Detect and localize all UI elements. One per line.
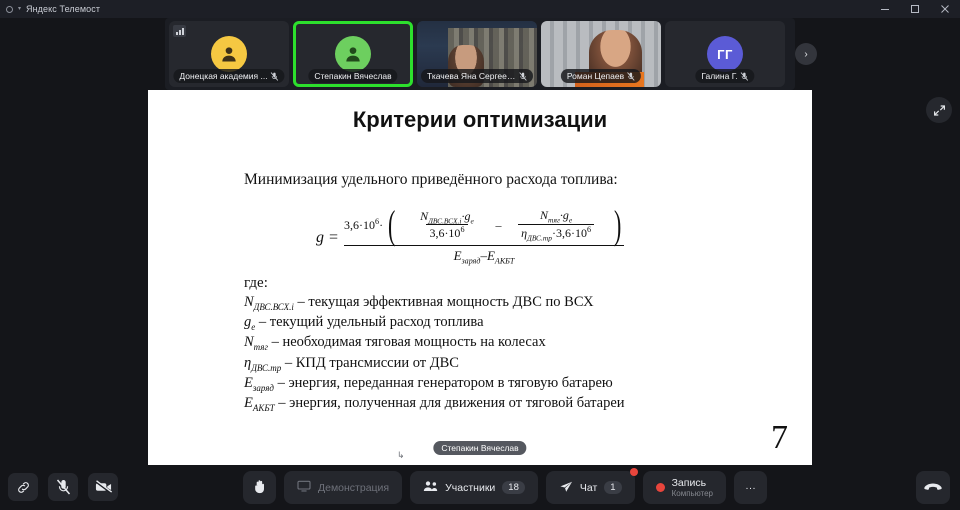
participant-name: Галина Г. <box>701 71 737 81</box>
app-title: Яндекс Телемост <box>26 4 100 14</box>
avatar <box>335 36 371 72</box>
meeting-toolbar: Демонстрация Участники 18 <box>0 465 960 510</box>
formula-lhs: g = <box>316 229 339 247</box>
participant-name-badge: Роман Цепаев <box>561 69 641 83</box>
network-quality-icon <box>173 25 186 37</box>
participant-name-badge: Ткачева Яна Сергеев... <box>421 69 533 83</box>
active-speaker-chip: Степакин Вячеслав <box>433 441 526 455</box>
slide-title: Критерии оптимизации <box>148 107 812 133</box>
camera-toggle-button[interactable] <box>88 473 118 501</box>
participant-thumbnail[interactable]: Ткачева Яна Сергеев... <box>417 21 537 87</box>
raise-hand-button[interactable] <box>243 471 276 504</box>
record-button[interactable]: Запись Компьютер <box>643 471 726 504</box>
formula-numerator: 3,6·106· ( NДВС.ВСХ.i·ge 3,6·106 – Nтяг·… <box>344 207 624 245</box>
legend-item: ηДВС.тр – КПД трансмиссии от ДВС <box>244 354 812 374</box>
participants-count: 18 <box>502 481 525 494</box>
legend-item: ge – текущий удельный расход топлива <box>244 313 812 333</box>
hangup-button[interactable] <box>916 471 950 504</box>
monitor-icon <box>297 480 311 495</box>
participants-label: Участники <box>445 482 495 494</box>
participant-name: Степакин Вячеслав <box>314 71 391 81</box>
participant-name: Роман Цепаев <box>567 71 624 81</box>
formula-minus: – <box>496 218 502 233</box>
paren-right: ) <box>614 207 621 243</box>
window-controls <box>870 0 960 18</box>
participant-thumbnail-active-speaker[interactable]: Степакин Вячеслав <box>293 21 413 87</box>
microphone-toggle-button[interactable] <box>48 473 78 501</box>
app-logo-icon <box>6 6 13 13</box>
titlebar-left: ▾ Яндекс Телемост <box>0 4 100 14</box>
participant-name-badge: Галина Г. <box>695 69 754 83</box>
fullscreen-expand-button[interactable] <box>926 97 952 123</box>
formula-block: g = 3,6·106· ( NДВС.ВСХ.i·ge 3,6·106 – N… <box>148 199 812 271</box>
hand-icon <box>253 479 267 497</box>
telemost-window: ▾ Яндекс Телемост Донецкая академия ... <box>0 0 960 510</box>
where-label: где: <box>244 275 812 292</box>
formula-main-fraction: 3,6·106· ( NДВС.ВСХ.i·ge 3,6·106 – Nтяг·… <box>344 207 624 266</box>
participant-name-badge: Степакин Вячеслав <box>308 69 397 83</box>
avatar-initials: ГГ <box>707 36 743 72</box>
share-screen-label: Демонстрация <box>318 482 389 494</box>
legend-item: Nтяг – необходимая тяговая мощность на к… <box>244 333 812 353</box>
legend-item: NДВС.ВСХ.i – текущая эффективная мощност… <box>244 293 812 313</box>
formula-term-2: Nтяг·ge ηДВС.тр·3,6·106 <box>504 208 609 242</box>
mic-off-icon <box>741 72 749 81</box>
chat-count: 1 <box>604 481 621 494</box>
mouse-cursor: ↳ <box>397 450 405 461</box>
shared-slide: Критерии оптимизации Минимизация удельно… <box>148 90 812 465</box>
participants-strip: Донецкая академия ... Степакин Вячеслав … <box>165 18 795 90</box>
participant-name: Ткачева Яна Сергеев... <box>427 71 516 81</box>
legend-list: NДВС.ВСХ.i – текущая эффективная мощност… <box>244 293 812 414</box>
strip-next-button[interactable]: › <box>795 43 817 65</box>
chat-unread-dot <box>630 468 638 476</box>
more-options-button[interactable]: ··· <box>734 471 767 504</box>
participant-thumbnail[interactable]: Донецкая академия ... <box>169 21 289 87</box>
people-icon <box>423 480 438 495</box>
chevron-down-icon: ▾ <box>18 6 21 12</box>
record-text: Запись Компьютер <box>672 477 713 498</box>
legend-item: Eзаряд – энергия, переданная генератором… <box>244 374 812 394</box>
avatar <box>211 36 247 72</box>
toolbar-center-group: Демонстрация Участники 18 <box>243 471 767 504</box>
numerator-factor: 3,6·106· <box>344 217 383 233</box>
participant-thumbnail[interactable]: ГГ Галина Г. <box>665 21 785 87</box>
record-label: Запись <box>672 477 713 489</box>
slide-page-number: 7 <box>771 419 788 457</box>
maximize-button[interactable] <box>900 0 930 18</box>
participant-thumbnail[interactable]: Роман Цепаев <box>541 21 661 87</box>
minimize-button[interactable] <box>870 0 900 18</box>
legend-item: EАКБТ – энергия, полученная для движения… <box>244 394 812 414</box>
record-dot-icon <box>656 483 665 492</box>
participants-button[interactable]: Участники 18 <box>410 471 538 504</box>
close-button[interactable] <box>930 0 960 18</box>
chat-label: Чат <box>580 482 597 494</box>
mic-off-icon <box>271 72 279 81</box>
paren-left: ( <box>388 207 395 243</box>
formula-term-1: NДВС.ВСХ.i·ge 3,6·106 <box>400 209 493 241</box>
mic-off-icon <box>627 72 635 81</box>
formula-denominator: Eзаряд–EАКБТ <box>344 246 624 266</box>
mic-off-icon <box>519 72 527 81</box>
participant-name-badge: Донецкая академия ... <box>173 69 284 83</box>
record-sublabel: Компьютер <box>672 489 713 498</box>
window-titlebar: ▾ Яндекс Телемост <box>0 0 960 18</box>
slide-body: Минимизация удельного приведённого расхо… <box>148 171 812 414</box>
chat-button[interactable]: Чат 1 <box>546 471 635 504</box>
participant-name: Донецкая академия ... <box>179 71 267 81</box>
send-icon <box>559 480 573 496</box>
copy-link-button[interactable] <box>8 473 38 501</box>
slide-lead-text: Минимизация удельного приведённого расхо… <box>244 171 812 189</box>
share-screen-button[interactable]: Демонстрация <box>284 471 402 504</box>
